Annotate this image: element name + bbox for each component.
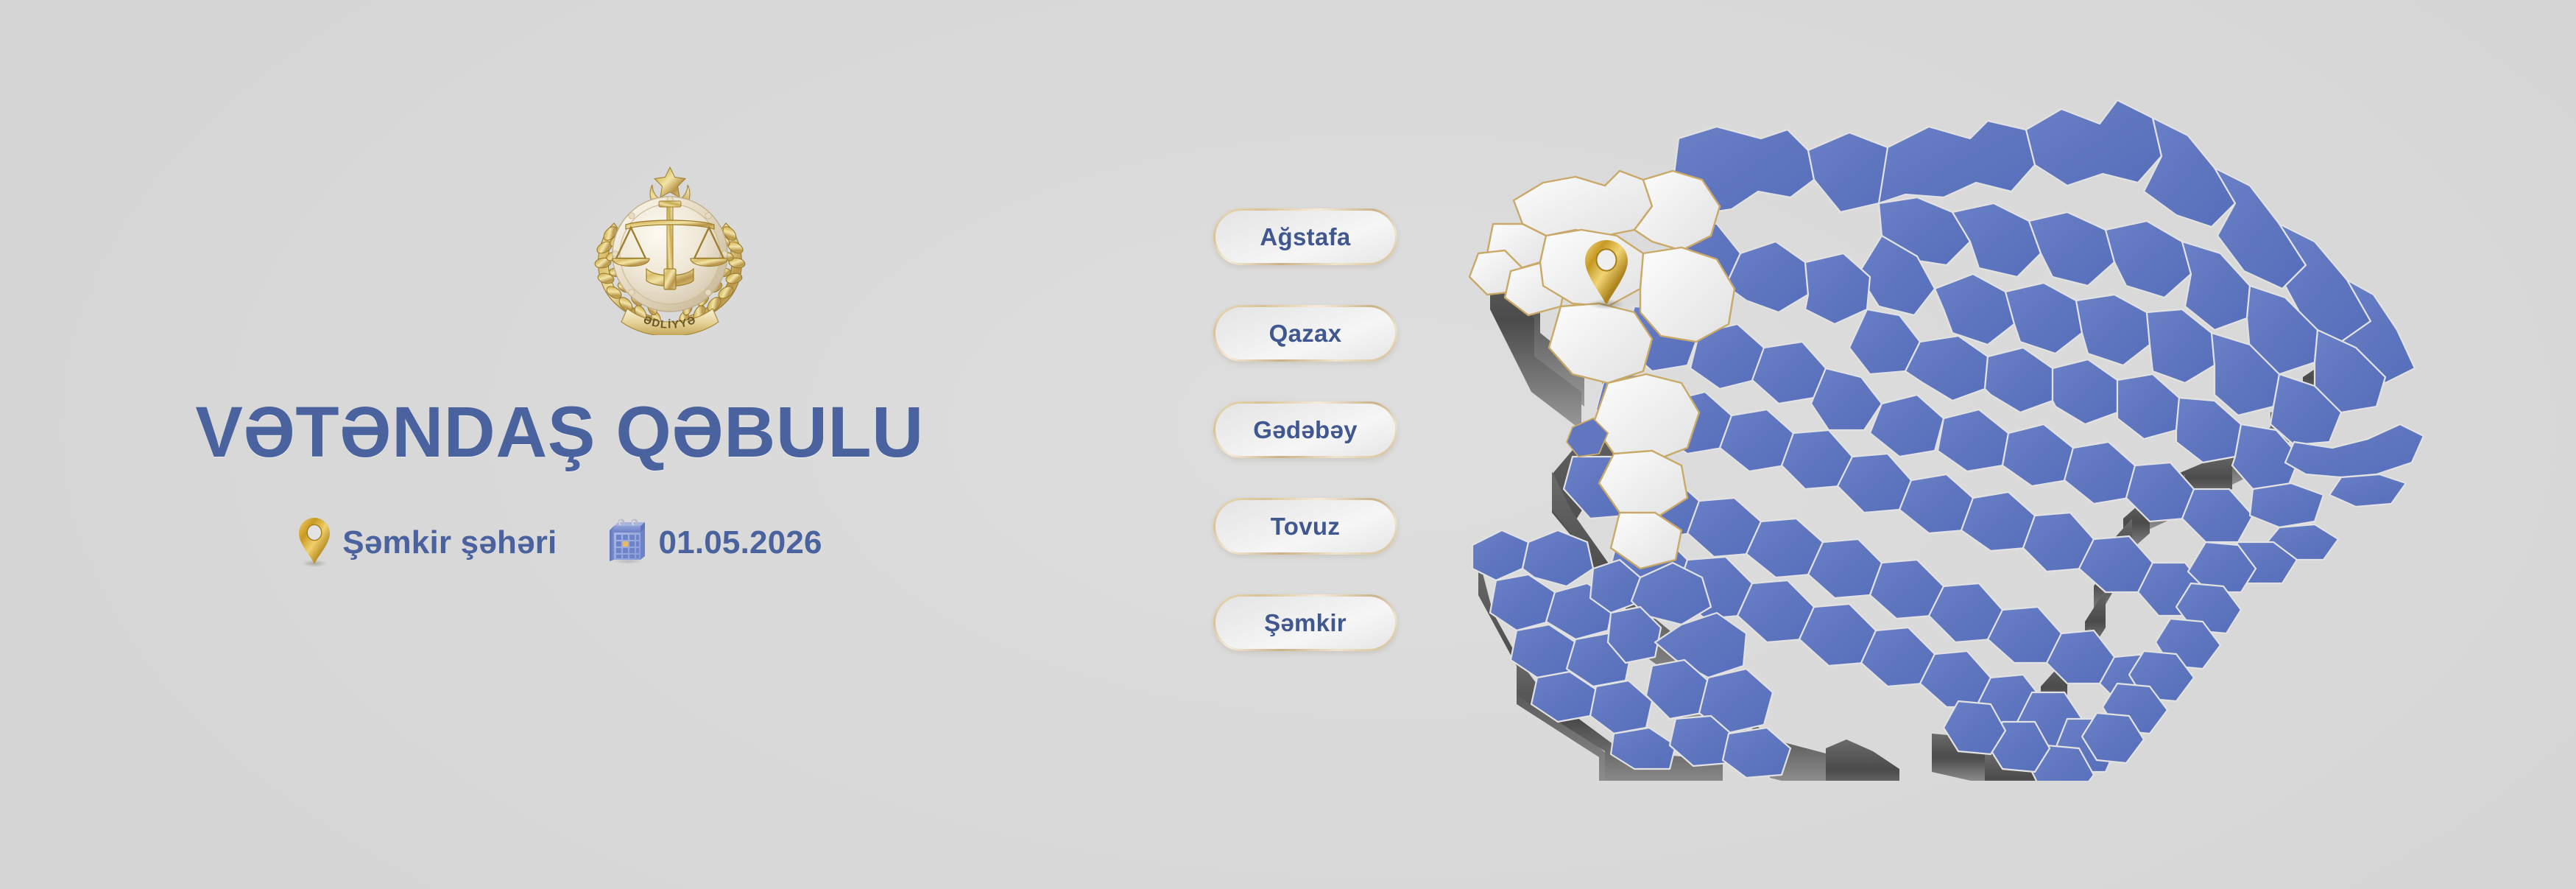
map-location-pin-icon[interactable] bbox=[1581, 237, 1631, 309]
map-district-qazax bbox=[1514, 171, 1652, 236]
district-button-label: Tovuz bbox=[1271, 513, 1340, 541]
location-pin-icon bbox=[297, 516, 332, 567]
event-location-text: Şəmkir şəhəri bbox=[342, 524, 557, 561]
district-button-tovuz[interactable]: Tovuz bbox=[1213, 498, 1397, 555]
azerbaijan-map[interactable] bbox=[1458, 88, 2488, 781]
ministry-of-justice-emblem-icon: ƏDLİYYƏ bbox=[582, 151, 758, 335]
district-button-label: Ağstafa bbox=[1260, 223, 1350, 251]
district-button-semkir[interactable]: Şəmkir bbox=[1213, 594, 1397, 651]
district-button-list: Ağstafa Qazax Gədəbəy Tovuz Şəmkir bbox=[1213, 208, 1397, 651]
poster-canvas: ƏDLİYYƏ VƏTƏNDAŞ QƏBULU bbox=[0, 0, 2576, 889]
event-date: 01.05.2026 bbox=[606, 519, 822, 564]
event-date-text: 01.05.2026 bbox=[659, 524, 822, 561]
district-button-surface: Şəmkir bbox=[1215, 597, 1395, 649]
event-meta-row: Şəmkir şəhəri bbox=[0, 516, 1119, 567]
district-button-label: Şəmkir bbox=[1264, 609, 1347, 637]
district-button-qazax[interactable]: Qazax bbox=[1213, 305, 1397, 362]
district-button-agstafa[interactable]: Ağstafa bbox=[1213, 208, 1397, 265]
district-button-surface: Tovuz bbox=[1215, 500, 1395, 552]
left-panel: ƏDLİYYƏ VƏTƏNDAŞ QƏBULU bbox=[0, 0, 1119, 889]
district-button-surface: Gədəbəy bbox=[1215, 404, 1395, 456]
district-button-surface: Ağstafa bbox=[1215, 211, 1395, 263]
event-location: Şəmkir şəhəri bbox=[297, 516, 557, 567]
page-title: VƏTƏNDAŞ QƏBULU bbox=[0, 395, 1119, 470]
star-shape bbox=[654, 167, 685, 197]
district-button-surface: Qazax bbox=[1215, 307, 1395, 359]
district-button-gedebey[interactable]: Gədəbəy bbox=[1213, 401, 1397, 458]
district-button-label: Gədəbəy bbox=[1253, 416, 1358, 444]
calendar-icon bbox=[606, 519, 649, 564]
district-button-label: Qazax bbox=[1269, 320, 1342, 348]
